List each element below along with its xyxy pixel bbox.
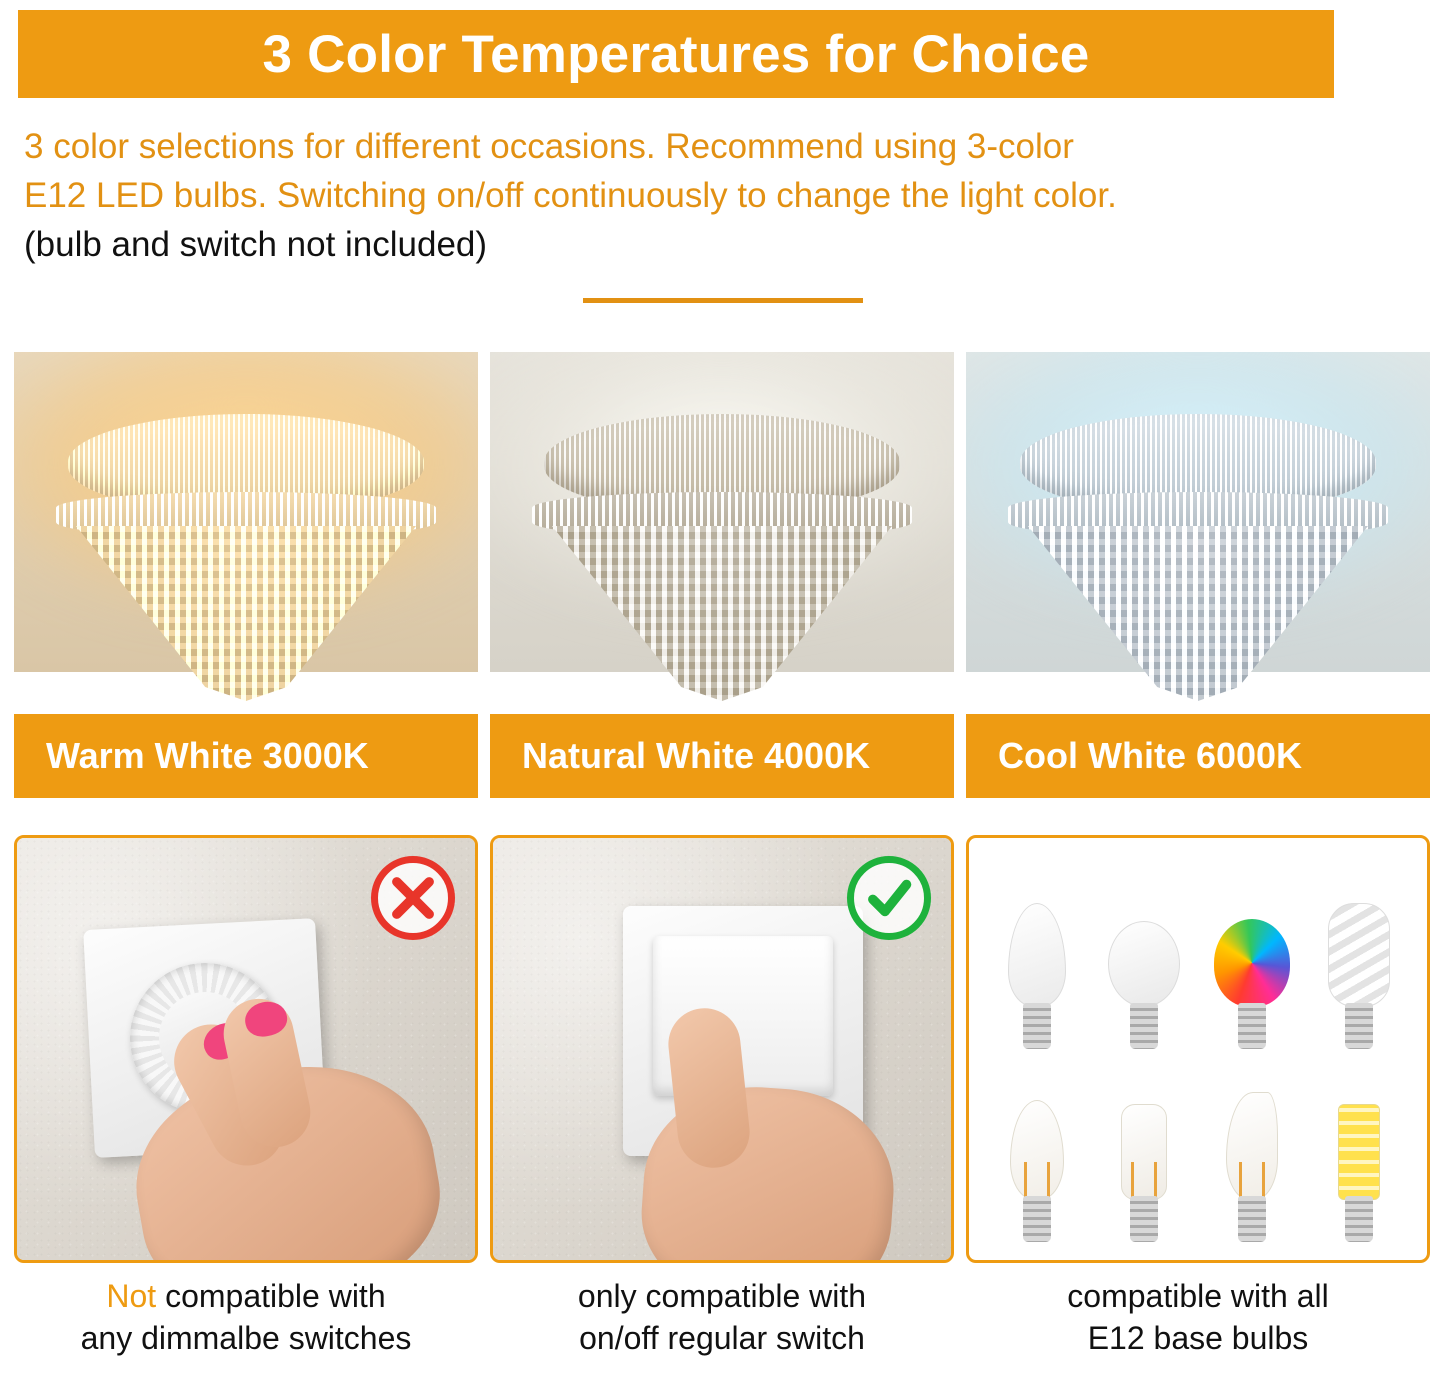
- compatibility-card-regular-switch: only compatible with on/off regular swit…: [490, 835, 954, 1383]
- crystal-ceiling-light-icon: [526, 414, 918, 704]
- header-banner: 3 Color Temperatures for Choice: [18, 10, 1334, 98]
- compatibility-card-dimmer: Not compatible with any dimmalbe switche…: [14, 835, 478, 1383]
- compatibility-card-bulbs: compatible with all E12 base bulbs: [966, 835, 1430, 1383]
- rgb-bulb-icon: [1206, 871, 1298, 1049]
- color-temperature-card: Warm White 3000K: [14, 352, 478, 798]
- intro-paragraph: 3 color selections for different occasio…: [24, 122, 1424, 269]
- caption-text-line2: any dimmalbe switches: [14, 1317, 478, 1359]
- color-temperature-label: Natural White 4000K: [490, 714, 954, 798]
- cross-icon: [371, 856, 455, 940]
- spiral-cfl-bulb-icon: [1313, 871, 1405, 1049]
- compatibility-gallery: Not compatible with any dimmalbe switche…: [14, 835, 1431, 1383]
- caption-text: compatible with: [156, 1278, 385, 1314]
- color-temperature-card: Natural White 4000K: [490, 352, 954, 798]
- page-title: 3 Color Temperatures for Choice: [263, 24, 1090, 85]
- compatibility-caption: only compatible with on/off regular swit…: [490, 1275, 954, 1359]
- regular-switch-photo: [490, 835, 954, 1263]
- check-icon: [847, 856, 931, 940]
- caption-highlight: Not: [106, 1278, 156, 1314]
- dimmer-switch-photo: [14, 835, 478, 1263]
- color-temperature-card: Cool White 6000K: [966, 352, 1430, 798]
- compatibility-caption: Not compatible with any dimmalbe switche…: [14, 1275, 478, 1359]
- corn-led-bulb-icon: [1313, 1064, 1405, 1242]
- section-divider: [583, 298, 863, 303]
- color-temperature-label: Cool White 6000K: [966, 714, 1430, 798]
- intro-line-1: 3 color selections for different occasio…: [24, 122, 1424, 171]
- intro-line-2: E12 LED bulbs. Switching on/off continuo…: [24, 171, 1424, 220]
- color-temperature-label: Warm White 3000K: [14, 714, 478, 798]
- crystal-ceiling-light-icon: [50, 414, 442, 704]
- filament-flame-tip-bulb-icon: [1206, 1064, 1298, 1242]
- globe-bulb-icon: [1098, 871, 1190, 1049]
- caption-text-line2: on/off regular switch: [490, 1317, 954, 1359]
- caption-text: only compatible with: [490, 1275, 954, 1317]
- candle-bulb-icon: [991, 871, 1083, 1049]
- caption-text: compatible with all: [966, 1275, 1430, 1317]
- e12-bulbs-photo: [966, 835, 1430, 1263]
- color-temperature-gallery: Warm White 3000K Natural White 4000K: [14, 352, 1431, 798]
- crystal-ceiling-light-icon: [1002, 414, 1394, 704]
- filament-tube-bulb-icon: [1098, 1064, 1190, 1242]
- intro-line-3: (bulb and switch not included): [24, 220, 1424, 269]
- caption-text-line2: E12 base bulbs: [966, 1317, 1430, 1359]
- compatibility-caption: compatible with all E12 base bulbs: [966, 1275, 1430, 1359]
- filament-candle-bulb-icon: [991, 1064, 1083, 1242]
